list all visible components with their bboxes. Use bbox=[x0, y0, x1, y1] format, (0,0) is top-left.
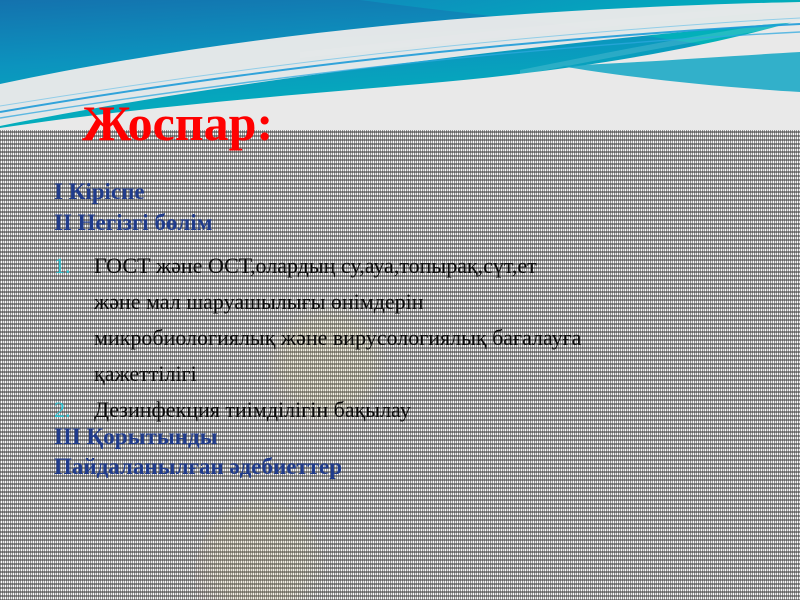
list-item-text: Дезинфекция тиімділігін бақылау bbox=[94, 392, 754, 428]
list-item: 2. Дезинфекция тиімділігін бақылау bbox=[54, 392, 754, 428]
list-item-marker: 1. bbox=[54, 248, 94, 284]
numbered-list: 1. ГОСТ және ОСТ,олардың су,ауа,топырақ,… bbox=[54, 248, 754, 428]
list-item-line: Дезинфекция тиімділігін бақылау bbox=[94, 392, 754, 428]
slide-content: Жоспар: I Кіріспе II Негізгі бөлім 1. ГО… bbox=[0, 0, 800, 600]
list-item-line: микробиологиялық және вирусологиялық бағ… bbox=[94, 320, 754, 356]
page-title: Жоспар: bbox=[82, 98, 273, 148]
heading-references: Пайдаланылған әдебиеттер bbox=[54, 455, 342, 479]
list-item-line: қажеттілігі bbox=[94, 356, 754, 392]
list-item-text: ГОСТ және ОСТ,олардың су,ауа,топырақ,сүт… bbox=[94, 248, 754, 392]
heading-conclusion: III Қорытынды bbox=[54, 425, 218, 449]
list-item-marker: 2. bbox=[54, 392, 94, 428]
presentation-slide: Жоспар: I Кіріспе II Негізгі бөлім 1. ГО… bbox=[0, 0, 800, 600]
list-item-line: және мал шаруашылығы өнімдерін bbox=[94, 284, 754, 320]
list-item: 1. ГОСТ және ОСТ,олардың су,ауа,топырақ,… bbox=[54, 248, 754, 392]
list-item-line: ГОСТ және ОСТ,олардың су,ауа,топырақ,сүт… bbox=[94, 248, 754, 284]
heading-main-part: II Негізгі бөлім bbox=[54, 211, 212, 235]
heading-introduction: I Кіріспе bbox=[54, 180, 145, 204]
